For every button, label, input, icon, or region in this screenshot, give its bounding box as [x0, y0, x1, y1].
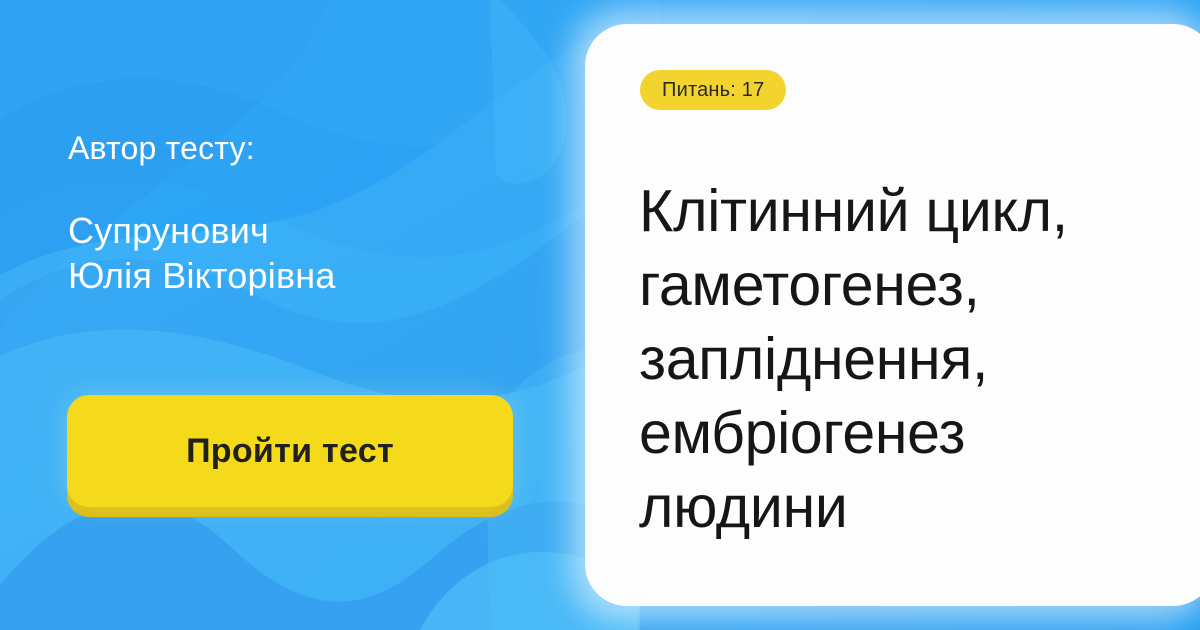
test-info-card: Питань: 17 Клітинний цикл, гаметогенез, …	[585, 24, 1200, 606]
author-name: Супрунович Юлія Вікторівна	[68, 208, 336, 298]
author-name-line-2: Юлія Вікторівна	[68, 253, 336, 298]
left-panel: Автор тесту: Супрунович Юлія Вікторівна …	[0, 0, 600, 630]
question-count-badge: Питань: 17	[640, 70, 786, 110]
test-title: Клітинний цикл, гаметогенез, запліднення…	[639, 174, 1179, 544]
author-label: Автор тесту:	[68, 128, 255, 168]
author-name-line-1: Супрунович	[68, 208, 336, 253]
cta-button-wrapper: Пройти тест	[67, 395, 513, 517]
share-card-canvas: Автор тесту: Супрунович Юлія Вікторівна …	[0, 0, 1200, 630]
take-test-button[interactable]: Пройти тест	[67, 395, 513, 507]
